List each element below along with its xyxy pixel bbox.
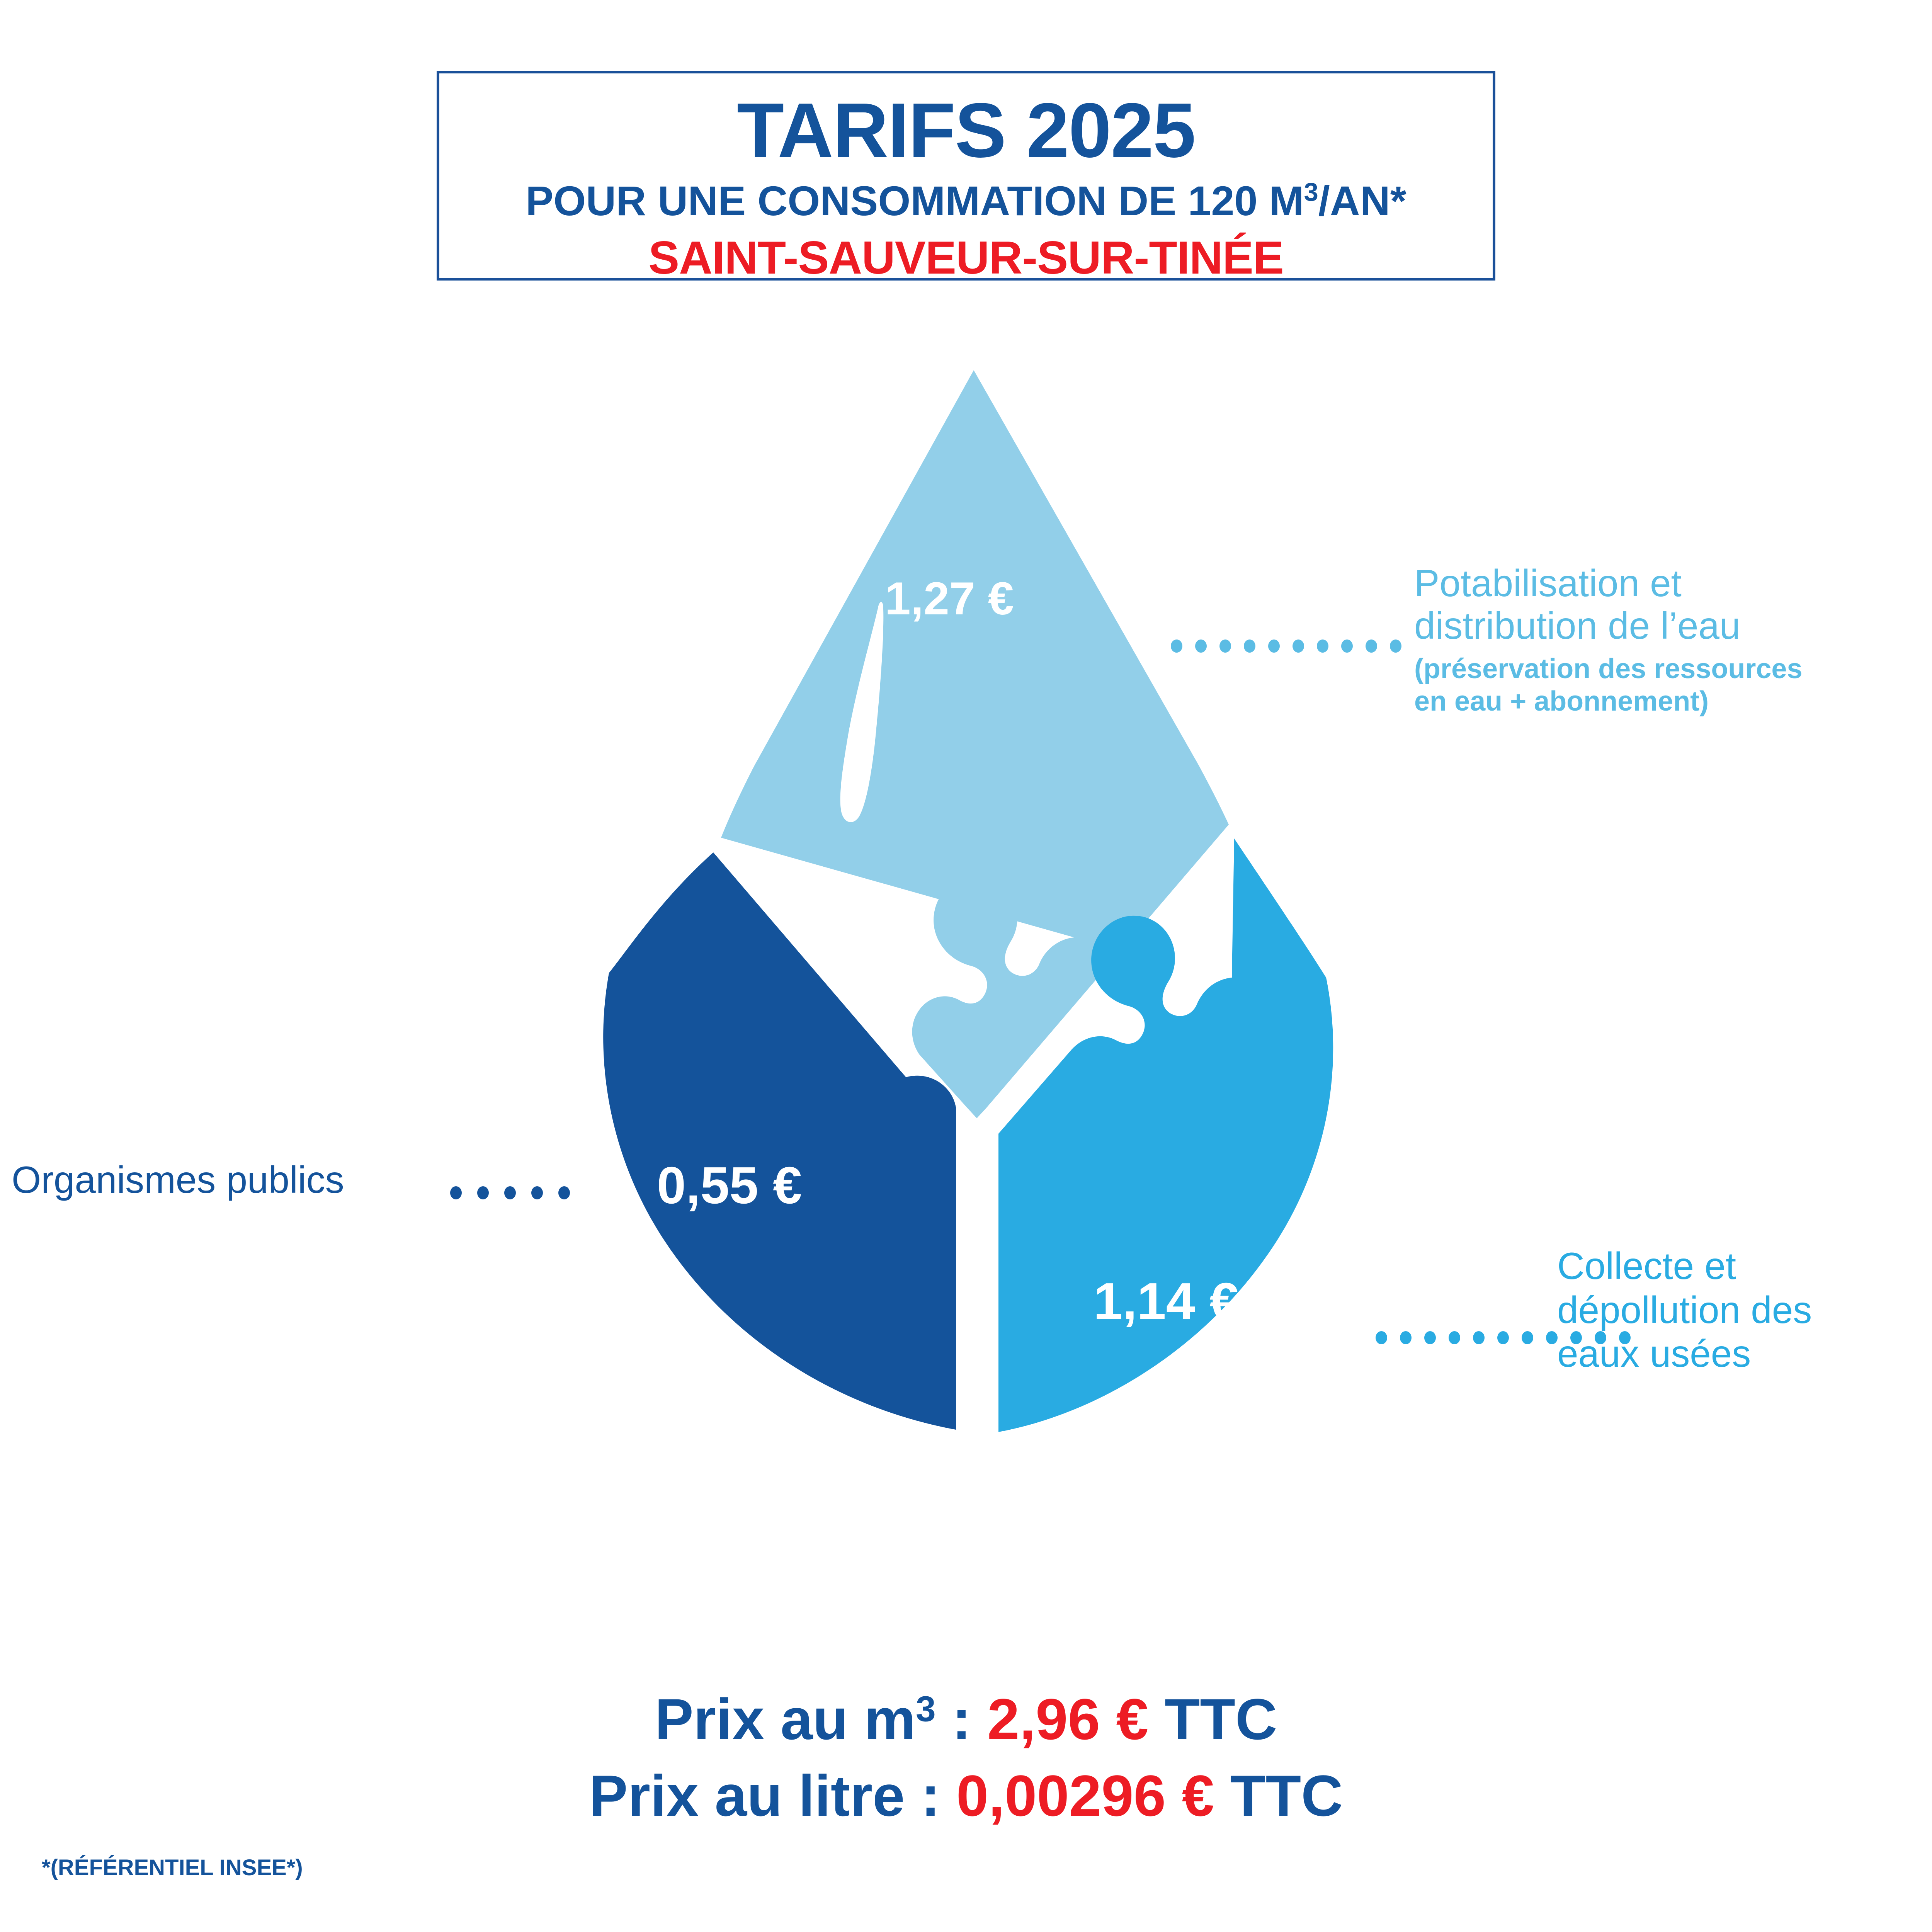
legend-potabilisation-sub2: en eau + abonnement) <box>1414 685 1889 718</box>
segment-value-potabilisation: 1,27 € <box>885 572 1014 625</box>
leader-dot <box>1268 639 1280 653</box>
legend-potabilisation: Potabilisation et distribution de l’eau … <box>1414 562 1889 718</box>
header-subtitle-suffix: /AN* <box>1318 177 1406 224</box>
legend-collecte-line2: dépollution des <box>1557 1288 1905 1332</box>
leader-dot <box>1366 639 1377 653</box>
legend-collecte-depollution: Collecte et dépollution des eaux usées <box>1557 1244 1905 1376</box>
price-per-m3-exponent: 3 <box>916 1689 936 1729</box>
price-per-litre-label: Prix au litre : <box>589 1763 956 1828</box>
leader-dot <box>1424 1331 1436 1344</box>
droplet-segment-organismes-publics[interactable] <box>603 852 956 1430</box>
leader-dot <box>1376 1331 1387 1344</box>
leader-dot <box>1400 1331 1412 1344</box>
price-per-litre-suffix: TTC <box>1214 1763 1343 1828</box>
leader-dot <box>1293 639 1304 653</box>
leader-dot <box>1195 639 1207 653</box>
legend-organismes-line1: Organismes publics <box>12 1159 421 1201</box>
header-subtitle: POUR UNE CONSOMMATION DE 120 M3/AN* <box>526 175 1406 227</box>
leader-dots-organismes-publics <box>450 1186 585 1199</box>
leader-dot <box>531 1186 543 1199</box>
leader-dot <box>1390 639 1401 653</box>
price-per-m3: Prix au m3 : 2,96 € TTC <box>0 1681 1932 1757</box>
price-per-m3-amount: 2,96 € <box>987 1687 1148 1752</box>
price-summary: Prix au m3 : 2,96 € TTC Prix au litre : … <box>0 1681 1932 1834</box>
commune-name: SAINT-SAUVEUR-SUR-TINÉE <box>648 230 1284 286</box>
leader-dots-potabilisation <box>1171 639 1414 653</box>
water-price-droplet-chart <box>576 363 1372 1557</box>
price-per-litre: Prix au litre : 0,00296 € TTC <box>0 1757 1932 1834</box>
header-box: TARIFS 2025 POUR UNE CONSOMMATION DE 120… <box>437 71 1495 281</box>
leader-dot <box>1244 639 1255 653</box>
droplet-svg <box>576 363 1372 1557</box>
leader-dot <box>1171 639 1182 653</box>
leader-dot <box>1546 1331 1558 1344</box>
legend-collecte-line3: eaux usées <box>1557 1332 1905 1376</box>
legend-potabilisation-line2: distribution de l’eau <box>1414 605 1889 647</box>
leader-dot <box>477 1186 489 1199</box>
price-per-litre-amount: 0,00296 € <box>956 1763 1214 1828</box>
leader-dot <box>450 1186 462 1199</box>
header-subtitle-exponent: 3 <box>1304 178 1318 207</box>
leader-dot <box>1449 1331 1460 1344</box>
page-title: TARIFS 2025 <box>737 92 1195 169</box>
leader-dot <box>1317 639 1328 653</box>
leader-dot <box>558 1186 570 1199</box>
price-per-m3-colon: : <box>936 1687 987 1752</box>
legend-organismes-publics: Organismes publics <box>12 1159 421 1201</box>
legend-potabilisation-sub1: (préservation des ressources <box>1414 653 1889 685</box>
legend-potabilisation-line1: Potabilisation et <box>1414 562 1889 605</box>
leader-dot <box>504 1186 516 1199</box>
segment-value-collecte-depollution: 1,14 € <box>1094 1271 1238 1331</box>
price-per-m3-suffix: TTC <box>1148 1687 1277 1752</box>
leader-dot <box>1219 639 1231 653</box>
header-subtitle-prefix: POUR UNE CONSOMMATION DE 120 M <box>526 177 1304 224</box>
leader-dot <box>1341 639 1353 653</box>
legend-collecte-line1: Collecte et <box>1557 1244 1905 1288</box>
segment-value-organismes-publics: 0,55 € <box>657 1155 802 1215</box>
footnote: *(RÉFÉRENTIEL INSEE*) <box>42 1855 303 1881</box>
price-per-m3-label: Prix au m <box>655 1687 916 1752</box>
leader-dot <box>1497 1331 1509 1344</box>
leader-dot <box>1473 1331 1485 1344</box>
leader-dot <box>1522 1331 1533 1344</box>
